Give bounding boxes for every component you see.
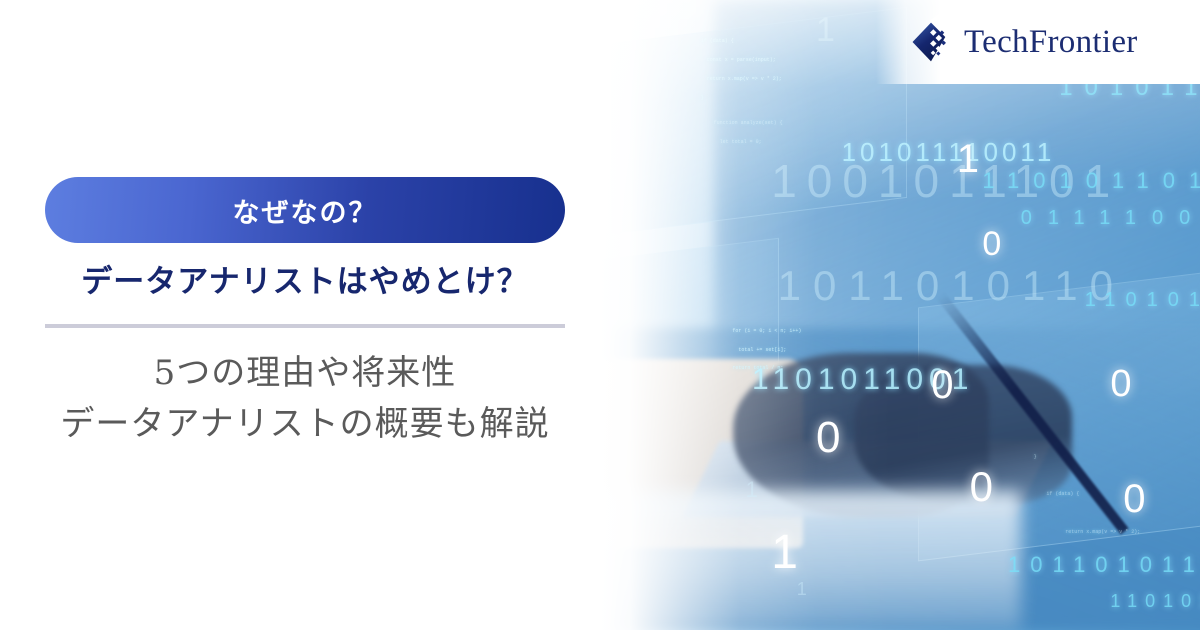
hero-banner: if (data) { const x = parse(input); retu…	[0, 0, 1200, 630]
hero-photo: if (data) { const x = parse(input); retu…	[560, 0, 1200, 630]
hero-subtitle-line-2: データアナリストの概要も解説	[20, 399, 590, 450]
hero-divider	[45, 324, 565, 328]
hero-subtitle: 5つの理由や将来性 データアナリストの概要も解説	[20, 348, 590, 450]
brand-wordmark: TechFrontier	[964, 24, 1138, 61]
photo-left-fade	[560, 0, 1200, 630]
hero-badge-label: なぜなの？	[233, 191, 378, 230]
hero-text-column: なぜなの？ データアナリストはやめとけ？ 5つの理由や将来性 データアナリストの…	[0, 0, 610, 630]
diamond-pixel-logo-icon	[910, 21, 952, 63]
hero-badge: なぜなの？	[45, 177, 565, 243]
hero-headline: データアナリストはやめとけ？	[45, 256, 565, 301]
logo-panel: TechFrontier	[876, 0, 1200, 84]
hero-subtitle-line-1: 5つの理由や将来性	[20, 348, 590, 399]
